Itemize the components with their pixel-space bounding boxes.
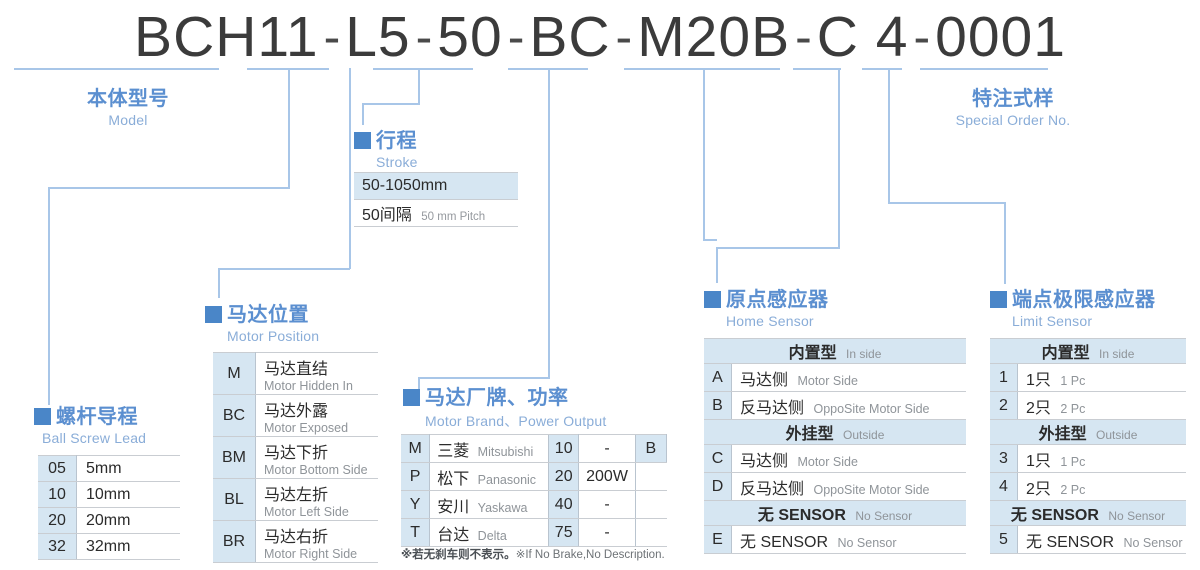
connector-model-horizontal: [48, 187, 290, 189]
motorpos-en: Motor Left Side: [264, 505, 378, 519]
home-en: Motor Side: [797, 374, 857, 388]
motorpos-cn: 马达右折: [264, 523, 378, 547]
motorpos-code: BL: [224, 491, 244, 508]
lead-value: 5mm: [86, 460, 122, 477]
home-cn: 无 SENSOR: [740, 534, 828, 551]
code-underline-limit: [862, 68, 902, 70]
limit-header-en: No Sensor: [1108, 509, 1165, 523]
group-header-ball-screw-lead: 螺杆导程 Ball Screw Lead: [34, 400, 146, 446]
connector-limit-v1: [888, 68, 890, 203]
code-segment-sensors: C 4: [817, 9, 909, 66]
table-row[interactable]: 4 2只 2 Pc: [990, 473, 1186, 501]
brand-cn: 安川: [437, 499, 469, 516]
limit-cn: 2只: [1026, 481, 1051, 498]
brand-brake: B: [646, 440, 657, 457]
motorpos-cn: 马达左折: [264, 481, 378, 505]
stroke-range-value: 50-1050mm: [362, 177, 447, 194]
lead-value: 20mm: [86, 512, 130, 529]
table-row[interactable]: 10 10mm: [38, 482, 180, 508]
table-row[interactable]: 1 1只 1 Pc: [990, 364, 1186, 392]
brand-en: Yaskawa: [478, 501, 528, 515]
motor-brand-note: ※若无刹车则不表示。※If No Brake,No Description.: [401, 546, 665, 562]
motorpos-en: Motor Right Side: [264, 547, 378, 561]
code-dash: -: [611, 12, 638, 62]
code-dash: -: [503, 12, 530, 62]
home-header-cn: 内置型: [789, 345, 837, 362]
connector-brand-v1: [548, 68, 550, 378]
group-title-motorpos-cn: 马达位置: [227, 304, 309, 326]
motor-position-table: M 马达直结 Motor Hidden In BC 马达外露 Motor Exp…: [213, 352, 378, 563]
code-underline-special: [920, 68, 1048, 70]
connector-home-h: [703, 239, 717, 241]
motorpos-en: Motor Exposed: [264, 421, 378, 435]
group-header-special-order: 特注式样 Special Order No.: [920, 82, 1106, 128]
limit-en: 2 Pc: [1060, 402, 1085, 416]
home-header-cn: 外挂型: [786, 426, 834, 443]
limit-en: 2 Pc: [1060, 483, 1085, 497]
square-bullet-icon: [990, 291, 1007, 308]
group-header-motor-brand: 马达厂牌、功率 Motor Brand、Power Output: [403, 381, 606, 431]
limit-code: 3: [999, 450, 1008, 467]
group-title-stroke-cn: 行程: [376, 130, 417, 152]
home-cn: 反马达侧: [740, 400, 804, 417]
code-segment-lead: L5: [345, 9, 410, 66]
code-dash: -: [411, 12, 438, 62]
connector-stroke-v2: [362, 103, 364, 125]
limit-code: 4: [999, 478, 1008, 495]
square-bullet-icon: [354, 132, 371, 149]
group-title-brand-en: Motor Brand、Power Output: [425, 411, 606, 431]
table-section-header: 外挂型 Outside: [990, 420, 1186, 445]
group-title-home-cn: 原点感应器: [726, 289, 829, 311]
table-row[interactable]: B 反马达侧 OppoSite Motor Side: [704, 392, 966, 420]
home-code: C: [712, 450, 724, 467]
brand-power-code: 75: [555, 524, 573, 541]
lead-code: 10: [48, 486, 66, 503]
table-row[interactable]: BC 马达外露 Motor Exposed: [213, 395, 378, 437]
table-section-header: 无 SENSOR No Sensor: [704, 501, 966, 526]
lead-value: 10mm: [86, 486, 130, 503]
table-row[interactable]: D 反马达侧 OppoSite Motor Side: [704, 473, 966, 501]
limit-cn: 1只: [1026, 372, 1051, 389]
table-row[interactable]: A 马达侧 Motor Side: [704, 364, 966, 392]
table-row[interactable]: 50间隔 50 mm Pitch: [354, 200, 518, 227]
connector-model-vertical: [288, 68, 290, 188]
table-row[interactable]: P 松下 Panasonic 20 200W: [401, 463, 667, 491]
home-cn: 反马达侧: [740, 481, 804, 498]
limit-en: No Sensor: [1123, 536, 1182, 550]
stroke-pitch-en: 50 mm Pitch: [421, 211, 485, 223]
group-header-model: 本体型号 Model: [48, 82, 208, 128]
brand-code: P: [410, 468, 421, 485]
square-bullet-icon: [704, 291, 721, 308]
table-section-header: 无 SENSOR No Sensor: [990, 501, 1186, 526]
home-cn: 马达侧: [740, 453, 788, 470]
home-header-en: In side: [846, 347, 881, 361]
connector-home-h2: [716, 247, 840, 249]
table-row[interactable]: T 台达 Delta 75 -: [401, 519, 667, 547]
code-segment-motor-brand: M20B: [637, 9, 790, 66]
limit-header-cn: 无 SENSOR: [1011, 507, 1099, 524]
table-row[interactable]: BL 马达左折 Motor Left Side: [213, 479, 378, 521]
brand-code: T: [410, 524, 420, 541]
brand-en: Panasonic: [478, 473, 536, 487]
stroke-table: 50-1050mm 50间隔 50 mm Pitch: [354, 172, 518, 227]
motorpos-en: Motor Bottom Side: [264, 463, 378, 477]
group-title-home-en: Home Sensor: [726, 313, 829, 329]
home-en: Motor Side: [797, 455, 857, 469]
code-underline-stroke: [373, 68, 473, 70]
brand-power: -: [604, 496, 609, 513]
group-title-special-en: Special Order No.: [920, 112, 1106, 128]
product-code: BCH11 - L5 - 50 - BC - M20B - C 4 - 0001: [0, 6, 1200, 68]
motorpos-code: BM: [222, 449, 246, 466]
table-row[interactable]: 5 无 SENSOR No Sensor: [990, 526, 1186, 554]
connector-motorpos-v3: [349, 68, 351, 269]
square-bullet-icon: [403, 389, 420, 406]
motorpos-code: BR: [223, 533, 245, 550]
limit-header-en: In side: [1099, 347, 1134, 361]
limit-header-cn: 内置型: [1042, 345, 1090, 362]
square-bullet-icon: [34, 408, 51, 425]
connector-stroke-v1: [418, 68, 420, 104]
brand-code: Y: [410, 496, 421, 513]
table-row[interactable]: M 马达直结 Motor Hidden In: [213, 353, 378, 395]
table-row[interactable]: M 三菱 Mitsubishi 10 - B: [401, 435, 667, 463]
table-section-header: 内置型 In side: [704, 339, 966, 364]
group-title-stroke-en: Stroke: [376, 154, 418, 170]
connector-home-v1: [703, 68, 705, 240]
connector-brand-h: [418, 377, 550, 379]
table-row[interactable]: C 马达侧 Motor Side: [704, 445, 966, 473]
group-title-limit-cn: 端点极限感应器: [1012, 289, 1156, 311]
brand-power-code: 10: [555, 440, 573, 457]
home-code: D: [712, 478, 724, 495]
group-title-lead-en: Ball Screw Lead: [42, 430, 146, 446]
group-header-limit-sensor: 端点极限感应器 Limit Sensor: [990, 283, 1156, 329]
limit-code: 5: [999, 531, 1008, 548]
table-row[interactable]: BM 马达下折 Motor Bottom Side: [213, 437, 378, 479]
group-title-special-cn: 特注式样: [972, 88, 1054, 110]
motorpos-code: M: [227, 365, 240, 382]
brand-cn: 台达: [437, 527, 469, 544]
limit-code: 1: [999, 369, 1008, 386]
code-segment-model: BCH11: [134, 9, 319, 66]
motorpos-cn: 马达下折: [264, 439, 378, 463]
motorpos-cn: 马达直结: [264, 355, 378, 379]
limit-en: 1 Pc: [1060, 455, 1085, 469]
home-code: E: [712, 531, 723, 548]
home-en: No Sensor: [837, 536, 896, 550]
code-segment-motor-pos: BC: [529, 9, 610, 66]
note-cn: ※若无刹车则不表示。: [401, 549, 516, 561]
code-segment-special: 0001: [935, 9, 1066, 66]
limit-cn: 2只: [1026, 400, 1051, 417]
group-title-brand-cn: 马达厂牌、功率: [425, 387, 569, 409]
brand-code: M: [408, 440, 421, 457]
home-cn: 马达侧: [740, 372, 788, 389]
home-code: B: [712, 397, 723, 414]
group-title-model-en: Model: [48, 112, 208, 128]
table-row[interactable]: 32 32mm: [38, 534, 180, 560]
lead-code: 20: [48, 512, 66, 529]
lead-code: 05: [48, 460, 66, 477]
code-dash: -: [319, 12, 346, 62]
table-row[interactable]: 20 20mm: [38, 508, 180, 534]
table-section-header: 外挂型 Outside: [704, 420, 966, 445]
limit-en: 1 Pc: [1060, 374, 1085, 388]
group-header-stroke: 行程 Stroke: [354, 124, 418, 170]
connector-motorpos-h: [218, 268, 350, 270]
brand-cn: 三菱: [437, 443, 469, 460]
group-title-lead-cn: 螺杆导程: [56, 406, 138, 428]
connector-home-v3: [716, 247, 718, 283]
home-en: OppoSite Motor Side: [813, 402, 929, 416]
note-en: ※If No Brake,No Description.: [516, 549, 665, 561]
motorpos-code: BC: [223, 407, 245, 424]
table-row[interactable]: 3 1只 1 Pc: [990, 445, 1186, 473]
brand-power: -: [604, 524, 609, 541]
table-row[interactable]: 05 5mm: [38, 456, 180, 482]
motor-brand-table: M 三菱 Mitsubishi 10 - B P 松下 Panasonic 20…: [401, 434, 667, 547]
limit-header-en: Outside: [1096, 428, 1137, 442]
table-row[interactable]: 50-1050mm: [354, 173, 518, 200]
lead-code: 32: [48, 538, 66, 555]
connector-limit-h: [888, 202, 1005, 204]
ball-screw-lead-table: 05 5mm 10 10mm 20 20mm 32 32mm: [38, 455, 180, 560]
connector-limit-v2: [1004, 202, 1006, 284]
table-row[interactable]: Y 安川 Yaskawa 40 -: [401, 491, 667, 519]
brand-cn: 松下: [437, 471, 469, 488]
limit-header-cn: 外挂型: [1039, 426, 1087, 443]
connector-lead-vertical: [48, 187, 50, 405]
code-underline-motor-brand: [624, 68, 780, 70]
code-underline-model: [14, 68, 219, 70]
home-sensor-table: 内置型 In side A 马达侧 Motor Side B 反马达侧 Oppo…: [704, 338, 966, 554]
home-header-cn: 无 SENSOR: [758, 507, 846, 524]
square-bullet-icon: [205, 306, 222, 323]
brand-power-code: 20: [555, 468, 573, 485]
limit-sensor-table: 内置型 In side 1 1只 1 Pc 2 2只 2 Pc 外挂型 Outs…: [990, 338, 1186, 554]
code-dash: -: [790, 12, 817, 62]
limit-cn: 1只: [1026, 453, 1051, 470]
brand-power-code: 40: [555, 496, 573, 513]
home-en: OppoSite Motor Side: [813, 483, 929, 497]
table-row[interactable]: BR 马达右折 Motor Right Side: [213, 521, 378, 563]
motorpos-cn: 马达外露: [264, 397, 378, 421]
group-title-limit-en: Limit Sensor: [1012, 313, 1156, 329]
motorpos-en: Motor Hidden In: [264, 379, 378, 393]
home-code: A: [712, 369, 723, 386]
code-segment-stroke: 50: [437, 9, 502, 66]
group-header-home-sensor: 原点感应器 Home Sensor: [704, 283, 829, 329]
connector-motorpos-v2: [218, 268, 220, 298]
code-underline-home: [793, 68, 841, 70]
brand-power: 200W: [586, 468, 628, 485]
home-header-en: No Sensor: [855, 509, 912, 523]
code-dash: -: [908, 12, 935, 62]
connector-stroke-h: [362, 103, 420, 105]
table-row[interactable]: 2 2只 2 Pc: [990, 392, 1186, 420]
brand-power: -: [604, 440, 609, 457]
brand-en: Delta: [478, 529, 507, 543]
limit-code: 2: [999, 397, 1008, 414]
table-row[interactable]: E 无 SENSOR No Sensor: [704, 526, 966, 554]
table-section-header: 内置型 In side: [990, 339, 1186, 364]
stroke-pitch-cn: 50间隔: [362, 207, 412, 224]
model-code-diagram: BCH11 - L5 - 50 - BC - M20B - C 4 - 0001: [0, 0, 1200, 570]
group-title-model-cn: 本体型号: [87, 88, 169, 110]
brand-en: Mitsubishi: [478, 445, 534, 459]
limit-cn: 无 SENSOR: [1026, 534, 1114, 551]
home-header-en: Outside: [843, 428, 884, 442]
group-header-motor-position: 马达位置 Motor Position: [205, 298, 319, 344]
connector-home-v2: [838, 68, 840, 248]
lead-value: 32mm: [86, 538, 130, 555]
group-title-motorpos-en: Motor Position: [227, 328, 319, 344]
